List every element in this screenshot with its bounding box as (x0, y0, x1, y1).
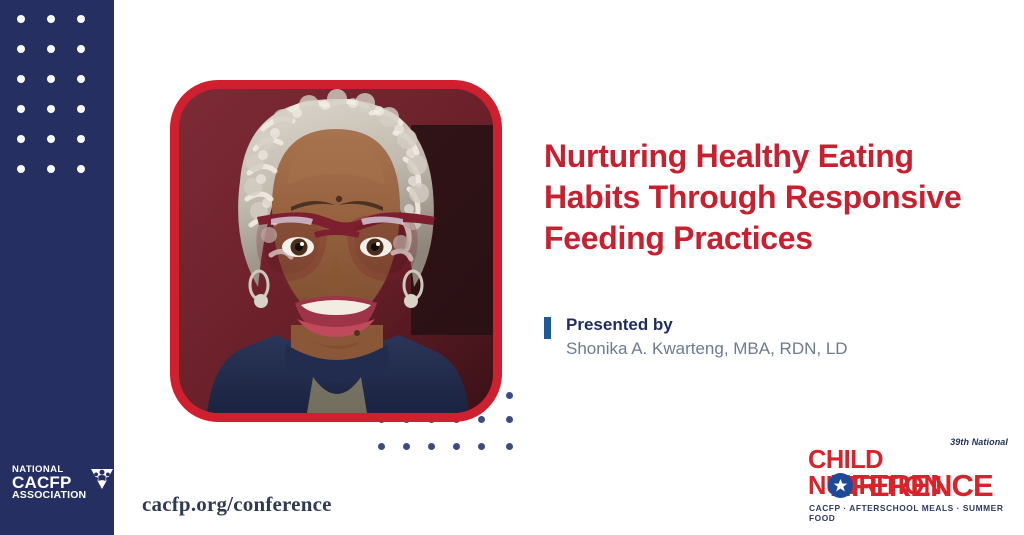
dot (77, 45, 85, 53)
cacfp-association-logo: NATIONAL CACFP ASSOCIATION (12, 459, 104, 507)
sidebar-dot-pattern (0, 0, 114, 200)
dot (47, 15, 55, 23)
dot (77, 105, 85, 113)
dot (77, 135, 85, 143)
dot (17, 105, 25, 113)
star-icon (828, 473, 853, 498)
dot (378, 443, 385, 450)
dot (403, 443, 410, 450)
dot (77, 75, 85, 83)
dot (478, 416, 485, 423)
conference-logo-line2-suffix: NFERENCE (830, 468, 993, 503)
dot (77, 165, 85, 173)
dot (478, 443, 485, 450)
presenter-name: Shonika A. Kwarteng, MBA, RDN, LD (566, 339, 984, 359)
dot (17, 165, 25, 173)
presenter-photo (170, 80, 502, 422)
dot (506, 392, 513, 399)
slide-title: Nurturing Healthy Eating Habits Through … (544, 136, 1004, 259)
conference-url[interactable]: cacfp.org/conference (142, 492, 332, 517)
dot (453, 443, 460, 450)
cacfp-logo-wordmark: NATIONAL CACFP ASSOCIATION (12, 465, 86, 501)
dot (428, 443, 435, 450)
conference-logo-superscript: 39th National (950, 437, 1008, 447)
presenter-accent-bar (544, 317, 551, 339)
child-nutrition-conference-logo: 39th National CHILD NUTRITION CNFERENCE … (806, 437, 1010, 517)
dot (17, 45, 25, 53)
dot (47, 165, 55, 173)
dot (47, 45, 55, 53)
dot (47, 105, 55, 113)
dot (506, 443, 513, 450)
left-sidebar: NATIONAL CACFP ASSOCIATION (0, 0, 114, 535)
conference-logo-tagline: CACFP · AFTERSCHOOL MEALS · SUMMER FOOD (809, 503, 1010, 523)
dot (506, 416, 513, 423)
dot (17, 135, 25, 143)
cacfp-logo-line3: ASSOCIATION (12, 490, 86, 501)
presented-by-label: Presented by (566, 315, 984, 335)
presenter-block: Presented by Shonika A. Kwarteng, MBA, R… (544, 315, 984, 360)
dot (77, 15, 85, 23)
cacfp-diamond-emblem-icon (89, 467, 115, 496)
dot (47, 75, 55, 83)
dot (17, 15, 25, 23)
dot (47, 135, 55, 143)
presenter-photo-image (179, 89, 493, 413)
dot (17, 75, 25, 83)
